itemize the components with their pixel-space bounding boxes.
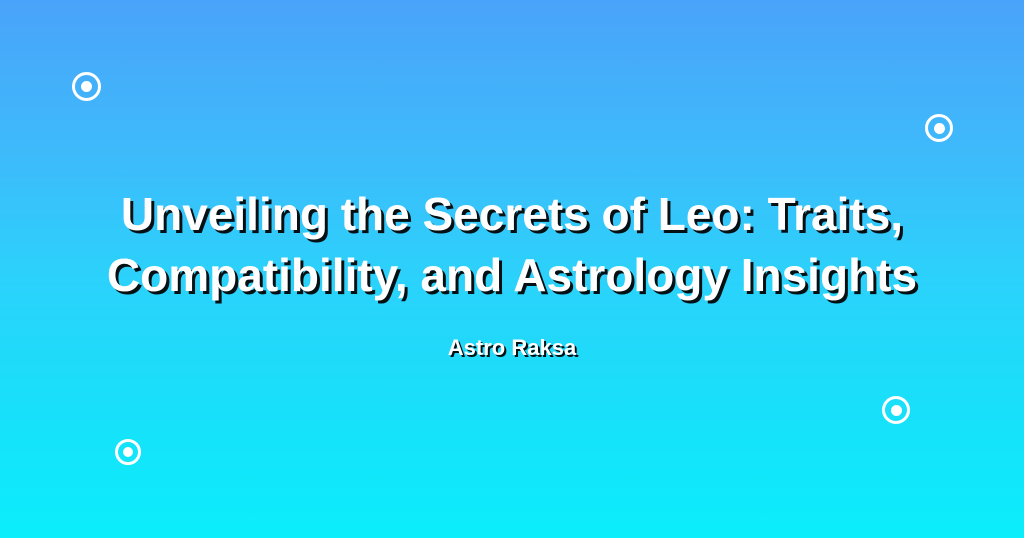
presentation-slide: Unveiling the Secrets of Leo: Traits, Co… — [0, 0, 1024, 538]
slide-subtitle: Astro Raksa — [448, 334, 576, 362]
slide-content: Unveiling the Secrets of Leo: Traits, Co… — [0, 0, 1024, 538]
slide-title: Unveiling the Secrets of Leo: Traits, Co… — [102, 184, 922, 306]
